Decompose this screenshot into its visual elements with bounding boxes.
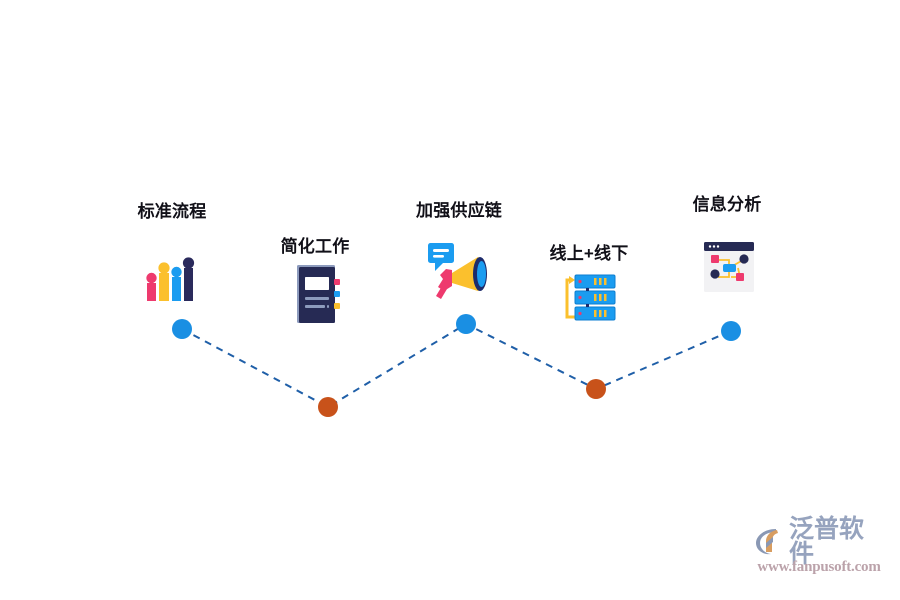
notebook-icon [292,263,344,325]
infographic-canvas: 标准流程 简化工作 [0,0,900,600]
megaphone-icon [426,239,492,301]
node-label-4: 线上+线下 [550,245,629,262]
node-label-3: 加强供应链 [416,202,502,219]
node-label-5: 信息分析 [693,196,762,213]
timeline-dot-5[interactable] [721,321,741,341]
analytics-window-icon [702,240,756,294]
bar-chart-people-icon [143,253,201,311]
timeline-dot-4[interactable] [586,379,606,399]
watermark-url: www.fanpusoft.com [752,560,886,575]
timeline-dot-2[interactable] [318,397,338,417]
timeline-dot-1[interactable] [172,319,192,339]
timeline-dot-3[interactable] [456,314,476,334]
node-label-1: 标准流程 [138,203,207,220]
server-rack-icon [561,272,617,324]
fanpu-logo-icon [752,525,784,557]
connector-dashed-path [182,324,731,407]
watermark: 泛普软件 www.fanpusoft.com [752,524,886,582]
node-label-2: 简化工作 [281,238,350,255]
